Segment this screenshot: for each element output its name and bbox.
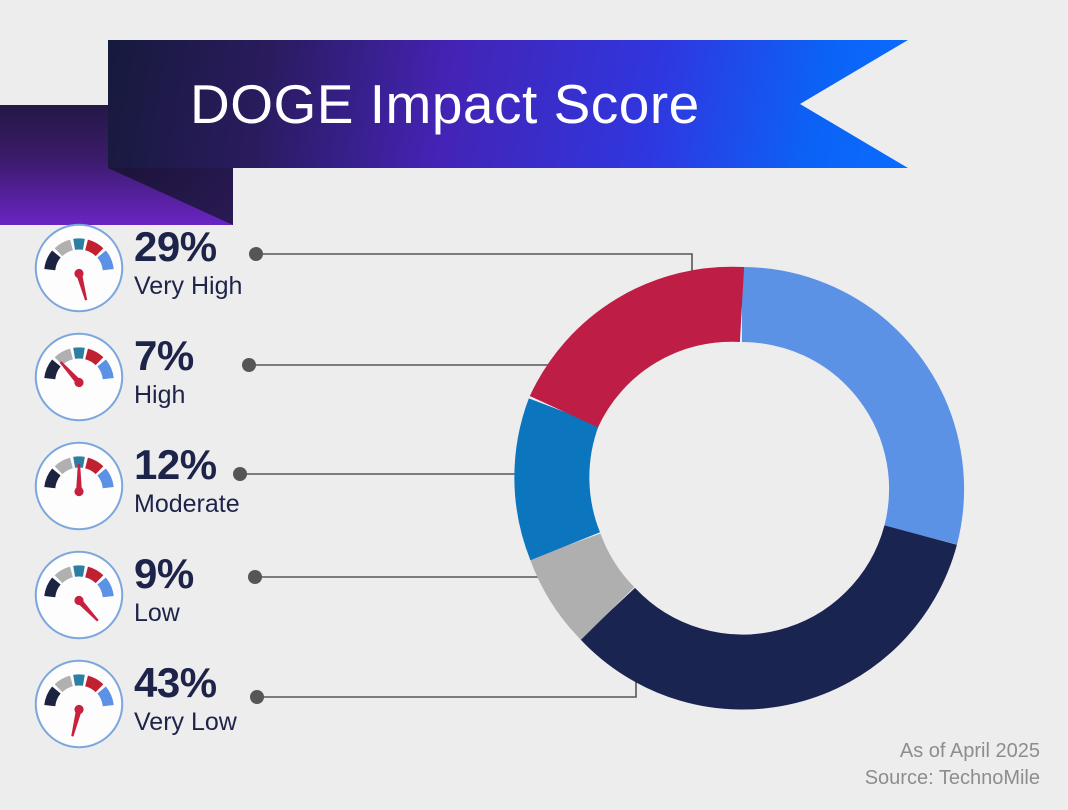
list-item[interactable]: 7% High	[30, 331, 330, 440]
gauge-icon	[33, 222, 125, 314]
footer-date: As of April 2025	[865, 738, 1040, 765]
legend-text-group: 29% Very High	[134, 224, 242, 301]
legend-text-group: 12% Moderate	[134, 442, 240, 519]
legend-text-group: 7% High	[134, 333, 194, 410]
page-title: DOGE Impact Score	[190, 72, 700, 136]
gauge-icon	[33, 658, 125, 750]
donut-slice-very-low	[608, 535, 921, 672]
donut-slice-very-high	[742, 305, 927, 536]
gauge-icon	[33, 440, 125, 532]
legend-percent: 9%	[134, 551, 194, 597]
legend-percent: 43%	[134, 660, 237, 706]
donut-slices	[552, 304, 927, 672]
list-item[interactable]: 29% Very High	[30, 222, 330, 331]
legend-text-group: 43% Very Low	[134, 660, 237, 737]
legend-label: Very High	[134, 271, 242, 301]
legend-label: Low	[134, 598, 194, 628]
gauge-icon	[33, 549, 125, 641]
legend-text-group: 9% Low	[134, 551, 194, 628]
title-banner: DOGE Impact Score	[0, 40, 1068, 195]
donut-slice-moderate	[552, 412, 565, 547]
banner-main-panel: DOGE Impact Score	[108, 40, 908, 168]
list-item[interactable]: 12% Moderate	[30, 440, 330, 549]
legend-percent: 29%	[134, 224, 242, 270]
legend-percent: 12%	[134, 442, 240, 488]
legend-label: High	[134, 380, 194, 410]
donut-slice-high	[564, 304, 742, 411]
gauge-icon	[33, 331, 125, 423]
donut-slice-low	[565, 546, 607, 613]
legend-percent: 7%	[134, 333, 194, 379]
legend-label: Moderate	[134, 489, 240, 519]
legend-list: 29% Very High 7% Hi	[30, 222, 330, 767]
footer-source: Source: TechnoMile	[865, 765, 1040, 792]
footer-note: As of April 2025 Source: TechnoMile	[865, 738, 1040, 792]
list-item[interactable]: 43% Very Low	[30, 658, 330, 767]
list-item[interactable]: 9% Low	[30, 549, 330, 658]
legend-label: Very Low	[134, 707, 237, 737]
